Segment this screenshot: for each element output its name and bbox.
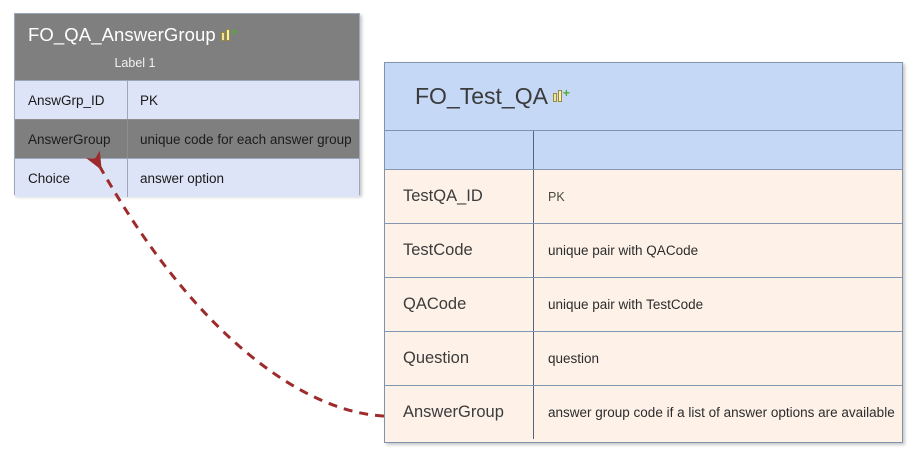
plus-icon: + <box>563 87 570 99</box>
field-description: unique pair with QACode <box>533 224 902 277</box>
table-row[interactable]: Question question <box>385 331 902 385</box>
header-cell-description <box>533 131 902 169</box>
field-name: Choice <box>15 159 127 197</box>
add-field-icon-bar-right <box>226 29 230 41</box>
add-field-icon-bar-right <box>558 90 562 102</box>
field-description: unique pair with TestCode <box>533 278 902 331</box>
table-row[interactable]: AnswGrp_ID PK <box>15 80 359 119</box>
entity-left-title-bar[interactable]: FO_QA_AnswerGroup + <box>15 14 359 56</box>
entity-left-column-label-bar: Label 1 <box>15 56 359 80</box>
entity-table-fo-test-qa[interactable]: FO_Test_QA + TestQA_ID PK TestCode uniqu… <box>384 62 903 443</box>
add-field-icon-bar-left <box>553 93 557 102</box>
diagram-canvas: FO_QA_AnswerGroup + Label 1 AnswGrp_ID P… <box>0 0 918 457</box>
add-field-icon-bar-left <box>221 32 225 41</box>
field-description: PK <box>533 170 902 223</box>
field-name: AnswGrp_ID <box>15 81 127 119</box>
field-description: question <box>533 332 902 385</box>
entity-right-title-bar[interactable]: FO_Test_QA + <box>385 63 902 130</box>
entity-left-column-label: Label 1 <box>114 56 155 70</box>
table-row[interactable]: AnswerGroup answer group code if a list … <box>385 385 902 439</box>
field-description: PK <box>127 81 359 119</box>
table-row[interactable]: TestCode unique pair with QACode <box>385 223 902 277</box>
table-row[interactable]: AnswerGroup unique code for each answer … <box>15 119 359 158</box>
field-name: AnswerGroup <box>385 386 533 439</box>
add-field-icon[interactable]: + <box>553 89 569 104</box>
entity-right-header-row <box>385 130 902 169</box>
field-description: unique code for each answer group <box>127 120 359 158</box>
table-row[interactable]: QACode unique pair with TestCode <box>385 277 902 331</box>
field-name: TestQA_ID <box>385 170 533 223</box>
entity-left-title: FO_QA_AnswerGroup <box>28 24 216 46</box>
field-name: QACode <box>385 278 533 331</box>
field-name: AnswerGroup <box>15 120 127 158</box>
add-field-icon[interactable]: + <box>221 28 237 43</box>
plus-icon: + <box>231 26 238 38</box>
field-description: answer group code if a list of answer op… <box>533 386 902 439</box>
field-description: answer option <box>127 159 359 197</box>
entity-table-fo-qa-answergroup[interactable]: FO_QA_AnswerGroup + Label 1 AnswGrp_ID P… <box>14 13 360 195</box>
header-cell-name <box>385 131 533 169</box>
field-name: Question <box>385 332 533 385</box>
entity-right-title: FO_Test_QA <box>415 83 548 110</box>
table-row[interactable]: Choice answer option <box>15 158 359 197</box>
field-name: TestCode <box>385 224 533 277</box>
table-row[interactable]: TestQA_ID PK <box>385 169 902 223</box>
